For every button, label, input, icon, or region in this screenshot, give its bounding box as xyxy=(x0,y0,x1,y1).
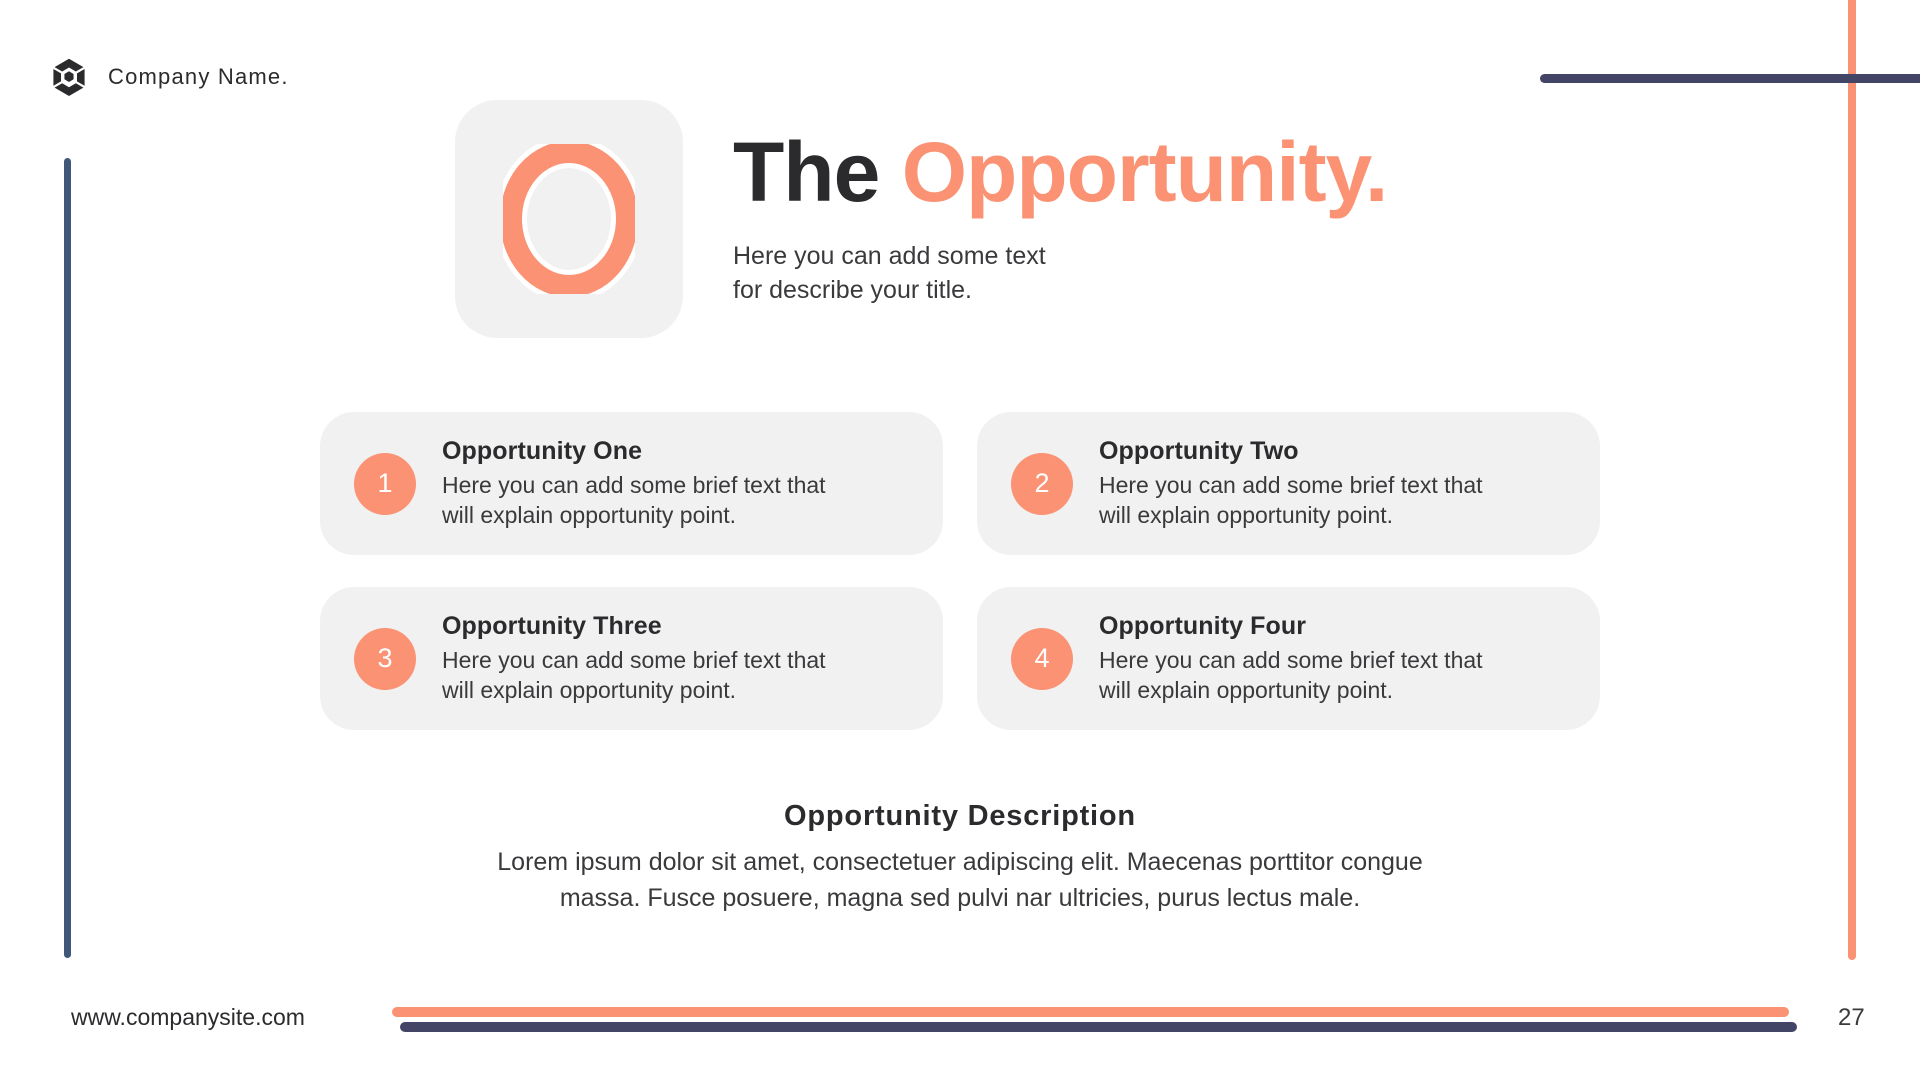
card-description: Here you can add some brief text that wi… xyxy=(1099,470,1570,531)
letter-o-ring-icon xyxy=(503,144,635,294)
brand-name: Company Name. xyxy=(108,64,289,90)
card-title: Opportunity Two xyxy=(1099,437,1570,466)
description-title: Opportunity Description xyxy=(360,800,1560,833)
opportunity-card-3[interactable]: 3 Opportunity Three Here you can add som… xyxy=(320,587,943,730)
page-title-part-2: Opportunity. xyxy=(902,125,1388,219)
footer-bar-navy xyxy=(400,1022,1797,1032)
card-number-badge: 1 xyxy=(354,453,416,515)
decorative-horizontal-line-top xyxy=(1540,74,1920,83)
description-section: Opportunity Description Lorem ipsum dolo… xyxy=(360,800,1560,916)
page-title: The Opportunity. xyxy=(733,130,1387,214)
footer-page-number: 27 xyxy=(1838,1004,1865,1032)
card-number-badge: 3 xyxy=(354,628,416,690)
hero-section: The Opportunity. Here you can add some t… xyxy=(455,100,1387,338)
card-title: Opportunity One xyxy=(442,437,913,466)
footer-bar-orange xyxy=(392,1007,1789,1017)
decorative-vertical-line-left xyxy=(64,158,71,958)
card-body: Opportunity Four Here you can add some b… xyxy=(1099,612,1570,706)
opportunity-card-2[interactable]: 2 Opportunity Two Here you can add some … xyxy=(977,412,1600,555)
footer-website-url[interactable]: www.companysite.com xyxy=(71,1004,305,1031)
card-title: Opportunity Four xyxy=(1099,612,1570,641)
opportunity-card-1[interactable]: 1 Opportunity One Here you can add some … xyxy=(320,412,943,555)
description-text: Lorem ipsum dolor sit amet, consectetuer… xyxy=(445,845,1475,916)
hero-icon-tile xyxy=(455,100,683,338)
card-title: Opportunity Three xyxy=(442,612,913,641)
card-description: Here you can add some brief text that wi… xyxy=(442,645,913,706)
brand-header: Company Name. xyxy=(50,58,289,96)
card-description: Here you can add some brief text that wi… xyxy=(1099,645,1570,706)
card-number-badge: 4 xyxy=(1011,628,1073,690)
card-body: Opportunity One Here you can add some br… xyxy=(442,437,913,531)
card-body: Opportunity Two Here you can add some br… xyxy=(1099,437,1570,531)
slide-canvas: Company Name. The Opportunity. Here you … xyxy=(0,0,1920,1080)
card-description: Here you can add some brief text that wi… xyxy=(442,470,913,531)
card-number-badge: 2 xyxy=(1011,453,1073,515)
opportunity-card-4[interactable]: 4 Opportunity Four Here you can add some… xyxy=(977,587,1600,730)
hero-subtitle: Here you can add some text for describe … xyxy=(733,240,1387,308)
opportunity-card-grid: 1 Opportunity One Here you can add some … xyxy=(320,412,1600,730)
hexagon-cube-logo-icon xyxy=(50,58,88,96)
decorative-vertical-line-right xyxy=(1848,0,1856,960)
page-title-part-1: The xyxy=(733,125,902,219)
hero-text-group: The Opportunity. Here you can add some t… xyxy=(733,100,1387,308)
card-body: Opportunity Three Here you can add some … xyxy=(442,612,913,706)
